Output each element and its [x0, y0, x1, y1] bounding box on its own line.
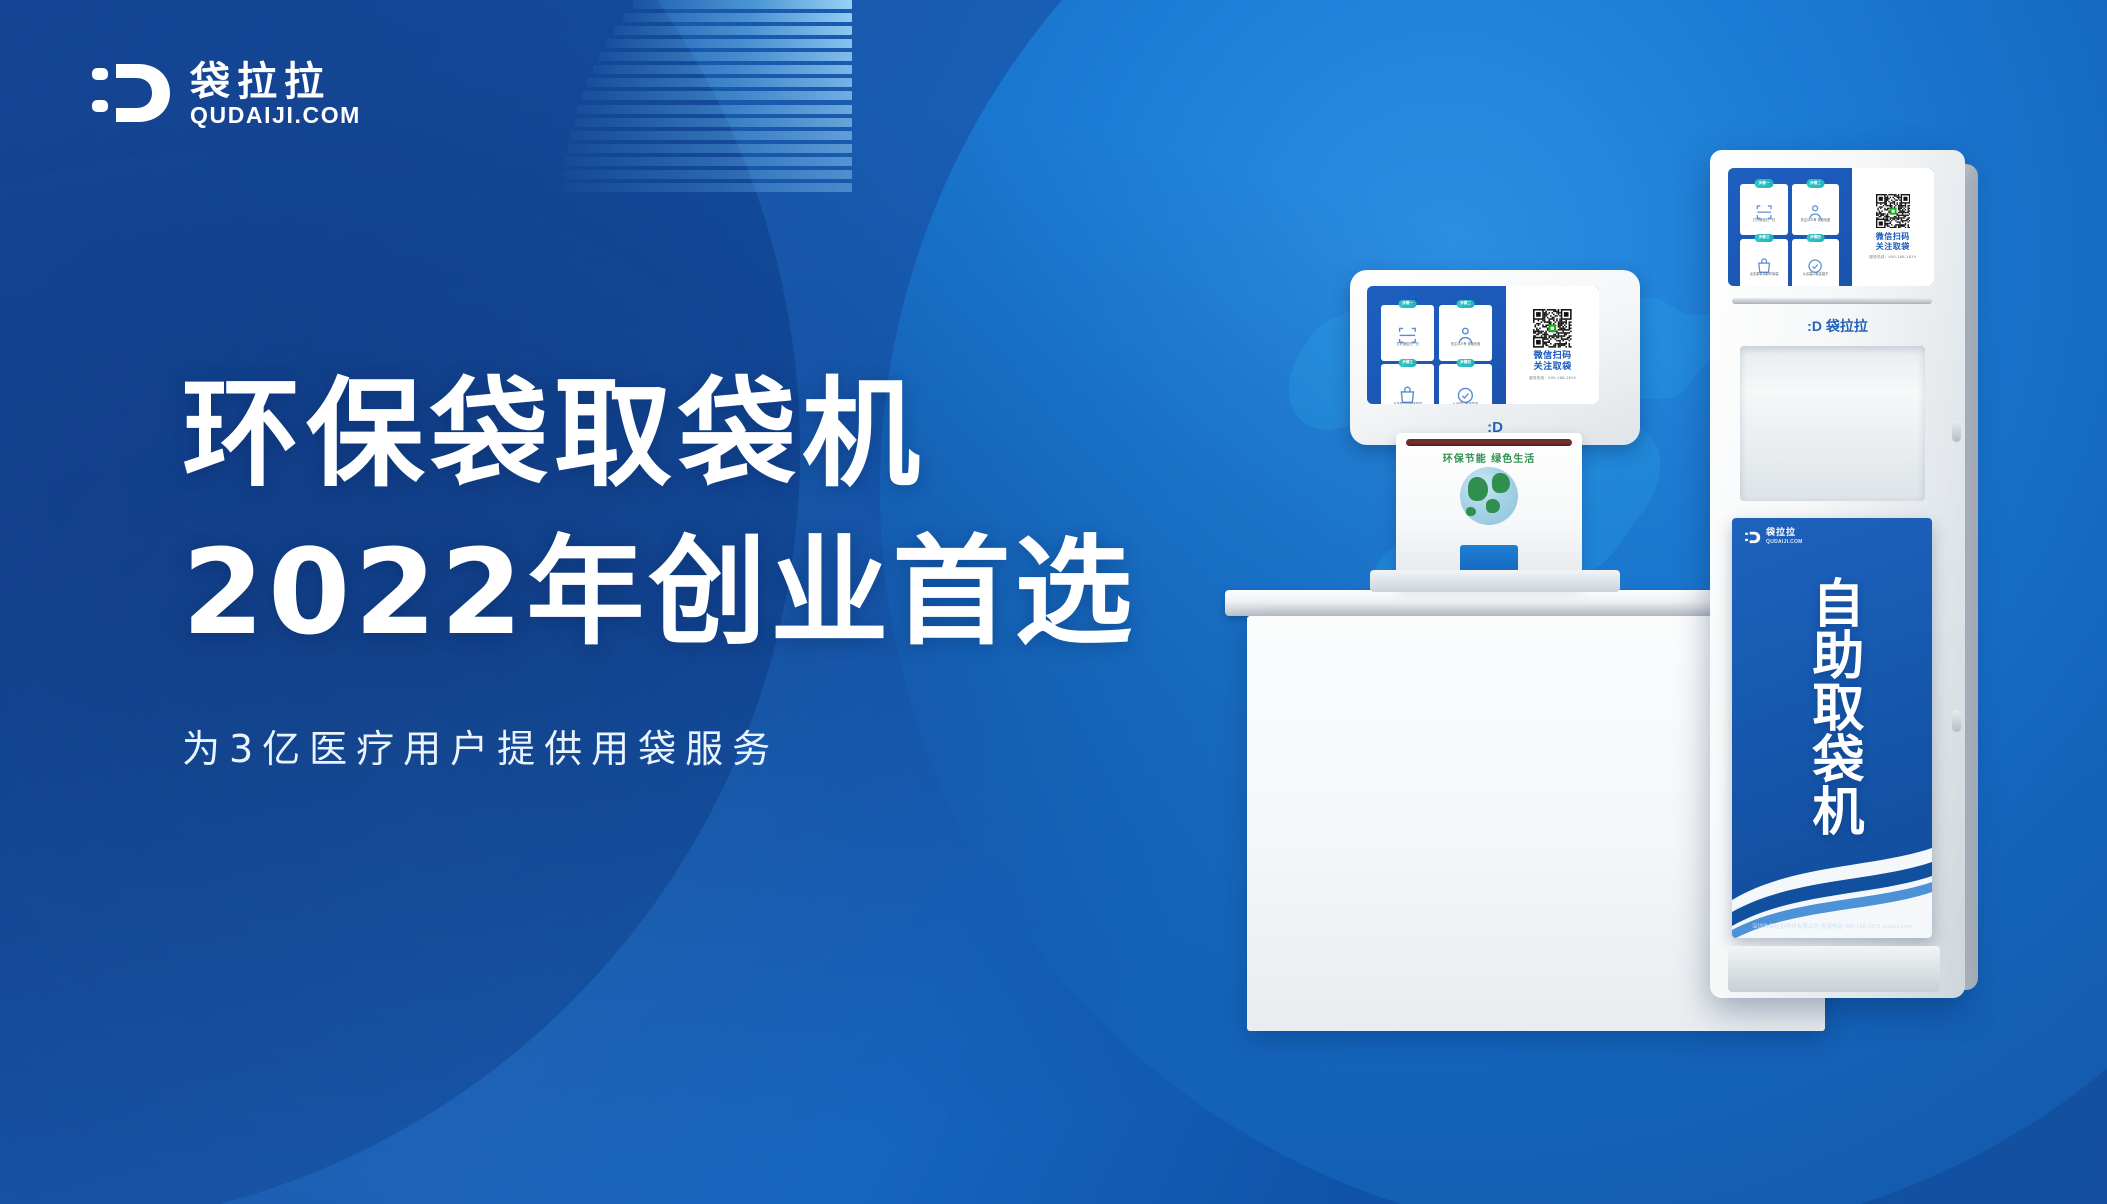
green-earth-icon	[1460, 467, 1518, 525]
headline-line-1: 环保袋取袋机	[182, 355, 1242, 513]
countertop-bag-dispenser: 步骤一打开微信扫一扫步骤二关注公众号 领取优惠步骤三点击菜单领取环保袋步骤四从出…	[1350, 270, 1640, 610]
step-chip: 步骤三	[1755, 234, 1774, 242]
countertop-dispense-panel: 环保节能 绿色生活	[1396, 433, 1582, 583]
screen-steps-panel: 步骤一打开微信扫一扫步骤二关注公众号 领取优惠步骤三点击菜单领取环保袋步骤四从出…	[1367, 286, 1506, 404]
hotline-text: 服务热线：400-168-1819	[1529, 376, 1576, 381]
kiosk-side-button-top[interactable]	[1952, 420, 1961, 442]
step-chip: 步骤三	[1398, 359, 1417, 367]
step-card: 步骤二关注公众号 领取优惠	[1792, 184, 1839, 235]
kiosk-body: 步骤一打开微信扫一扫步骤二关注公众号 领取优惠步骤三点击菜单领取环保袋步骤四从出…	[1710, 150, 1965, 998]
kiosk-dispense-chute	[1740, 346, 1925, 501]
stripe-decoration	[452, 0, 852, 204]
step-card: 步骤一打开微信扫一扫	[1381, 305, 1434, 361]
follow-account-icon	[1806, 203, 1824, 215]
follow-account-icon	[1455, 325, 1476, 339]
eco-slogan: 环保节能 绿色生活	[1396, 450, 1582, 465]
bag-dispense-slot	[1406, 439, 1572, 446]
headline-line-2: 2022年创业首选	[182, 513, 1242, 671]
receive-bag-icon	[1755, 257, 1773, 269]
colon-d-logo-icon	[92, 60, 174, 126]
countertop-screen[interactable]: 步骤一打开微信扫一扫步骤二关注公众号 领取优惠步骤三点击菜单领取环保袋步骤四从出…	[1367, 286, 1599, 404]
step-chip: 步骤四	[1806, 234, 1825, 242]
brand-url: QUDAIJI.COM	[190, 104, 361, 127]
step-card: 步骤四从出袋口取走袋子	[1792, 239, 1839, 286]
screen-steps-panel: 步骤一打开微信扫一扫步骤二关注公众号 领取优惠步骤三点击菜单领取环保袋步骤四从出…	[1728, 168, 1852, 286]
screen-ui: 步骤一打开微信扫一扫步骤二关注公众号 领取优惠步骤三点击菜单领取环保袋步骤四从出…	[1728, 168, 1934, 286]
kiosk-base	[1728, 946, 1940, 992]
marketing-banner: 袋拉拉 QUDAIJI.COM 环保袋取袋机 2022年创业首选 为3亿医疗用户…	[0, 0, 2107, 1204]
kiosk-front-logo: :D 袋拉拉	[1710, 316, 1965, 336]
countertop-base	[1370, 570, 1620, 592]
headline-subtitle: 为3亿医疗用户提供用袋服务	[182, 727, 1242, 773]
screen-ui: 步骤一打开微信扫一扫步骤二关注公众号 领取优惠步骤三点击菜单领取环保袋步骤四从出…	[1367, 286, 1599, 404]
hotline-text: 服务热线：400-168-1819	[1869, 255, 1916, 260]
step-card: 步骤四从出袋口取走袋子	[1439, 364, 1492, 404]
panel-brand-logo: 袋拉拉 QUDAIJI.COM	[1745, 529, 1803, 545]
scan-qr-icon	[1755, 203, 1773, 215]
screen-qr-panel: 微信扫码关注取袋服务热线：400-168-1819	[1506, 286, 1599, 404]
step-card: 步骤二关注公众号 领取优惠	[1439, 305, 1492, 361]
headline-block: 环保袋取袋机 2022年创业首选 为3亿医疗用户提供用袋服务	[182, 355, 1242, 773]
product-scene: 步骤一打开微信扫一扫步骤二关注公众号 领取优惠步骤三点击菜单领取环保袋步骤四从出…	[1190, 150, 2107, 1050]
wechat-prompt: 微信扫码关注取袋	[1534, 351, 1572, 372]
wechat-prompt: 微信扫码关注取袋	[1876, 232, 1910, 251]
panel-fine-print: 深圳市袋拉拉科技有限公司 客服电话 400-168-1819 qudaiji.c…	[1732, 922, 1932, 930]
kiosk-screen[interactable]: 步骤一打开微信扫一扫步骤二关注公众号 领取优惠步骤三点击菜单领取环保袋步骤四从出…	[1728, 168, 1934, 286]
step-chip: 步骤一	[1398, 300, 1417, 308]
kiosk-seam	[1732, 298, 1932, 304]
step-card: 步骤三点击菜单领取环保袋	[1740, 239, 1787, 286]
step-chip: 步骤二	[1806, 179, 1825, 187]
take-bag-icon	[1806, 257, 1824, 269]
kiosk-panel-title: 自助取袋机	[1804, 576, 1860, 836]
step-chip: 步骤四	[1456, 359, 1475, 367]
kiosk-graphic-panel: 袋拉拉 QUDAIJI.COM 自助取袋机 深圳市袋拉拉科技有限公司 客服电话 …	[1732, 518, 1932, 938]
qr-code-icon[interactable]	[1533, 309, 1572, 348]
screen-qr-panel: 微信扫码关注取袋服务热线：400-168-1819	[1852, 168, 1934, 286]
kiosk-side-button-bottom[interactable]	[1952, 710, 1961, 732]
floor-standing-bag-dispenser: 步骤一打开微信扫一扫步骤二关注公众号 领取优惠步骤三点击菜单领取环保袋步骤四从出…	[1710, 150, 1990, 1010]
step-card: 步骤三点击菜单领取环保袋	[1381, 364, 1434, 404]
qr-code-icon[interactable]	[1876, 194, 1910, 228]
colon-d-logo-icon	[1745, 531, 1761, 544]
panel-brand-url: QUDAIJI.COM	[1766, 540, 1803, 545]
scan-qr-icon	[1397, 325, 1418, 339]
panel-brand-name: 袋拉拉	[1766, 529, 1803, 538]
take-bag-icon	[1455, 385, 1476, 399]
step-card: 步骤一打开微信扫一扫	[1740, 184, 1787, 235]
brand-name-cn: 袋拉拉	[190, 62, 361, 102]
step-chip: 步骤二	[1456, 300, 1475, 308]
receive-bag-icon	[1397, 385, 1418, 399]
step-chip: 步骤一	[1755, 179, 1774, 187]
brand-logo[interactable]: 袋拉拉 QUDAIJI.COM	[92, 60, 361, 127]
countertop-head: 步骤一打开微信扫一扫步骤二关注公众号 领取优惠步骤三点击菜单领取环保袋步骤四从出…	[1350, 270, 1640, 445]
